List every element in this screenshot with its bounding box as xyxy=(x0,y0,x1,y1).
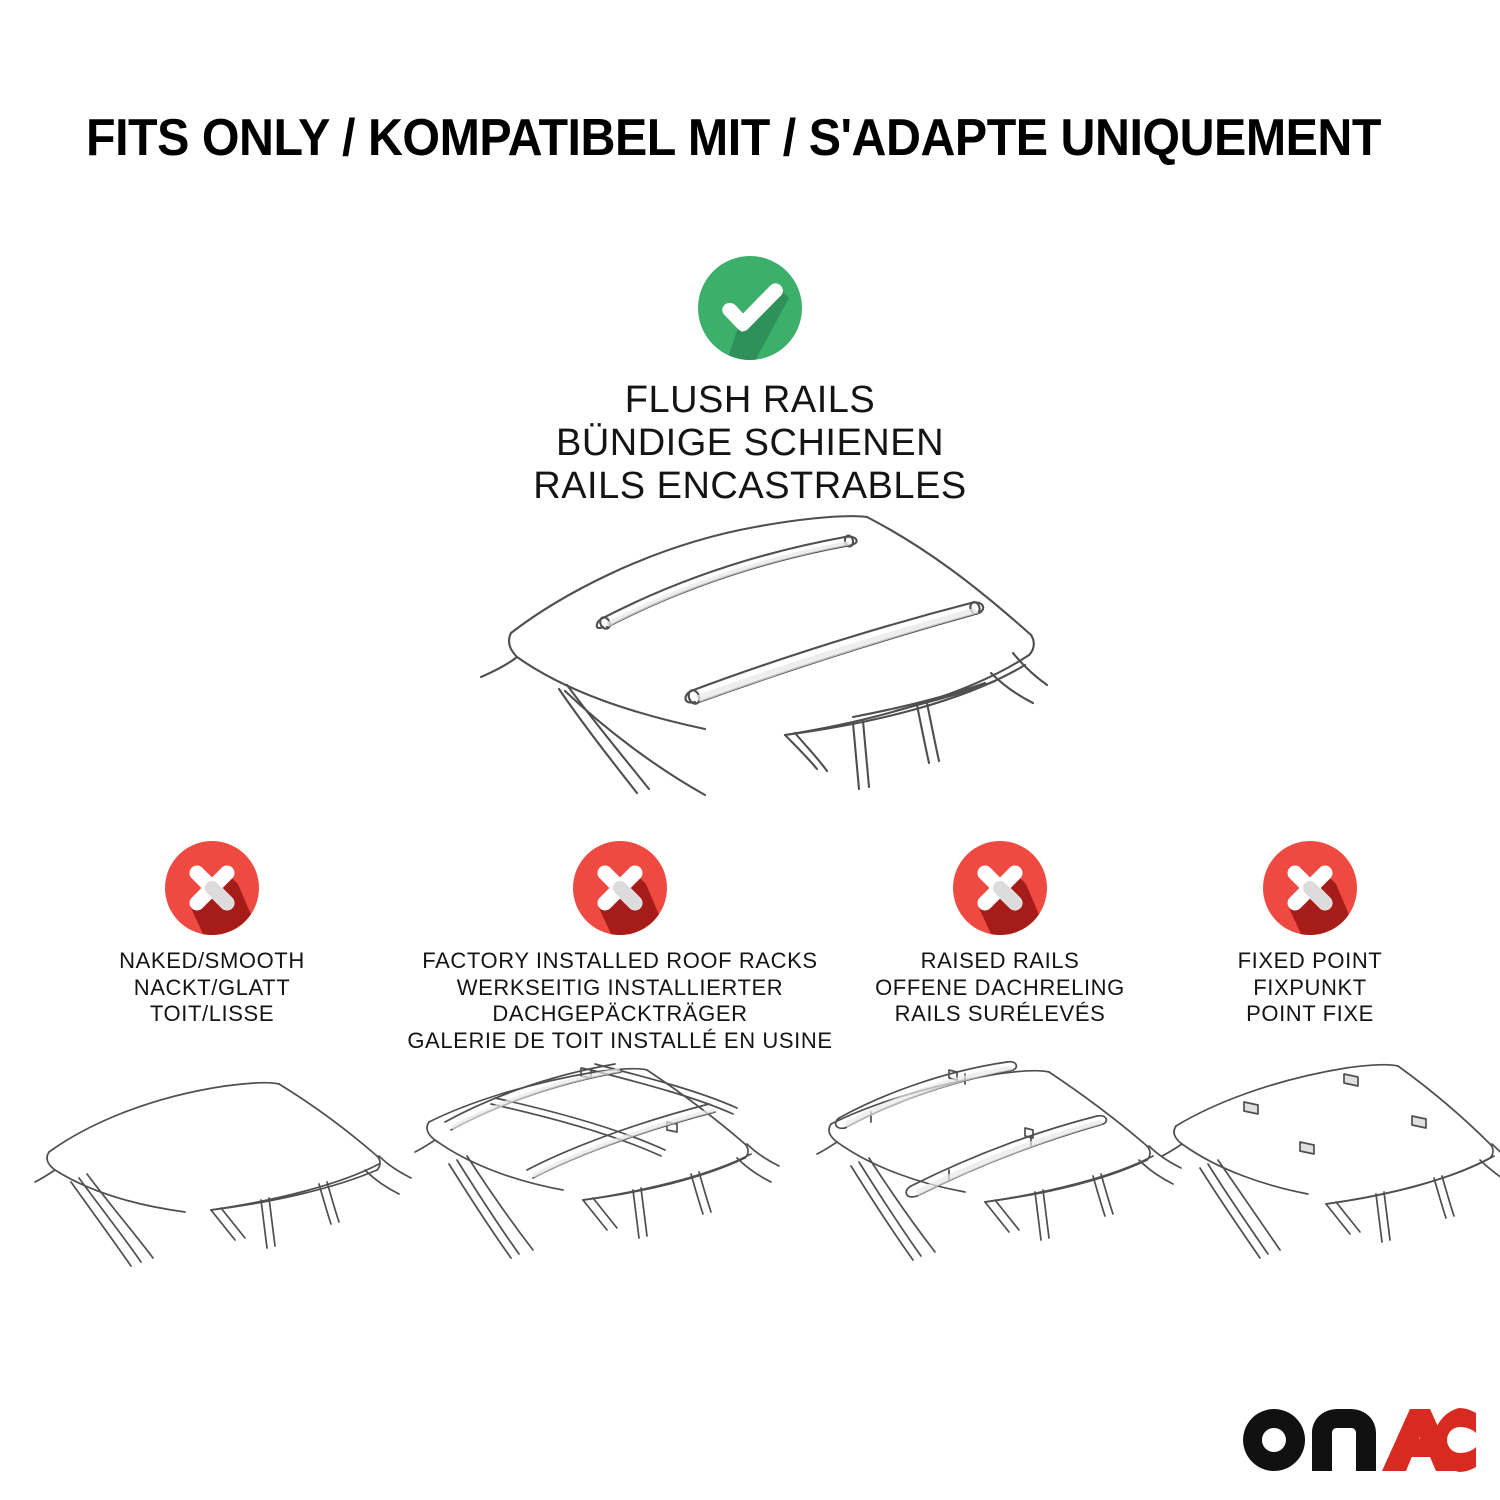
reject-item-raised-rails: RAISED RAILS OFFENE DACHRELING RAILS SUR… xyxy=(835,840,1165,1028)
approved-section: FLUSH RAILS BÜNDIGE SCHIENEN RAILS ENCAS… xyxy=(0,255,1500,508)
flush-rails-illustration-wrapper xyxy=(455,495,1095,815)
rejected-section: NAKED/SMOOTH NACKT/GLATT TOIT/LISSE xyxy=(0,840,1500,1070)
roof-illustration-factory-racks xyxy=(415,1060,815,1300)
reject-label-line: NACKT/GLATT xyxy=(12,975,412,1002)
reject-label-line: OFFENE DACHRELING xyxy=(835,975,1165,1002)
reject-label-line: TOIT/LISSE xyxy=(12,1001,412,1028)
green-check-circle-icon xyxy=(697,255,803,361)
reject-label-group: RAISED RAILS OFFENE DACHRELING RAILS SUR… xyxy=(835,948,1165,1028)
reject-label-line: DACHGEPÄCKTRÄGER xyxy=(390,1001,850,1028)
red-x-circle-icon xyxy=(952,840,1048,936)
reject-label-line: WERKSEITIG INSTALLIERTER xyxy=(390,975,850,1002)
red-x-circle-icon xyxy=(164,840,260,936)
reject-item-factory-roof-racks: FACTORY INSTALLED ROOF RACKS WERKSEITIG … xyxy=(390,840,850,1054)
page-title: FITS ONLY / KOMPATIBEL MIT / S'ADAPTE UN… xyxy=(86,108,1332,168)
roof-illustration-fixed-point xyxy=(1160,1060,1500,1300)
reject-label-line: NAKED/SMOOTH xyxy=(12,948,412,975)
reject-label-line: FACTORY INSTALLED ROOF RACKS xyxy=(390,948,850,975)
reject-label-group: FIXED POINT FIXPUNKT POINT FIXE xyxy=(1160,948,1460,1028)
omac-logo xyxy=(1238,1405,1476,1475)
car-roof-flush-rails-illustration xyxy=(455,495,1095,815)
red-x-circle-icon xyxy=(1262,840,1358,936)
approved-label-de: BÜNDIGE SCHIENEN xyxy=(0,422,1500,465)
reject-label-line: RAISED RAILS xyxy=(835,948,1165,975)
car-roof-naked-smooth-illustration xyxy=(35,1060,435,1300)
approved-label-en: FLUSH RAILS xyxy=(0,379,1500,422)
reject-label-line: GALERIE DE TOIT INSTALLÉ EN USINE xyxy=(390,1028,850,1055)
reject-label-group: FACTORY INSTALLED ROOF RACKS WERKSEITIG … xyxy=(390,948,850,1054)
reject-item-naked-smooth: NAKED/SMOOTH NACKT/GLATT TOIT/LISSE xyxy=(12,840,412,1028)
reject-item-fixed-point: FIXED POINT FIXPUNKT POINT FIXE xyxy=(1160,840,1460,1028)
red-x-circle-icon xyxy=(572,840,668,936)
car-roof-raised-rails-illustration xyxy=(815,1060,1215,1300)
car-roof-factory-roof-racks-illustration xyxy=(415,1060,815,1300)
x-icon-wrapper xyxy=(164,840,260,936)
reject-label-line: RAILS SURÉLEVÉS xyxy=(835,1001,1165,1028)
car-roof-fixed-point-illustration xyxy=(1160,1060,1500,1300)
omac-logo-icon xyxy=(1238,1405,1476,1475)
reject-label-group: NAKED/SMOOTH NACKT/GLATT TOIT/LISSE xyxy=(12,948,412,1028)
x-icon-wrapper xyxy=(1262,840,1358,936)
roof-illustration-row xyxy=(0,1060,1500,1300)
roof-illustration-naked xyxy=(35,1060,435,1300)
reject-label-line: FIXED POINT xyxy=(1160,948,1460,975)
x-icon-wrapper xyxy=(572,840,668,936)
roof-illustration-raised-rails xyxy=(815,1060,1215,1300)
approved-labels: FLUSH RAILS BÜNDIGE SCHIENEN RAILS ENCAS… xyxy=(0,379,1500,508)
check-icon-wrapper xyxy=(697,255,803,361)
reject-label-line: POINT FIXE xyxy=(1160,1001,1460,1028)
infographic-page: FITS ONLY / KOMPATIBEL MIT / S'ADAPTE UN… xyxy=(0,0,1500,1500)
reject-label-line: FIXPUNKT xyxy=(1160,975,1460,1002)
x-icon-wrapper xyxy=(952,840,1048,936)
